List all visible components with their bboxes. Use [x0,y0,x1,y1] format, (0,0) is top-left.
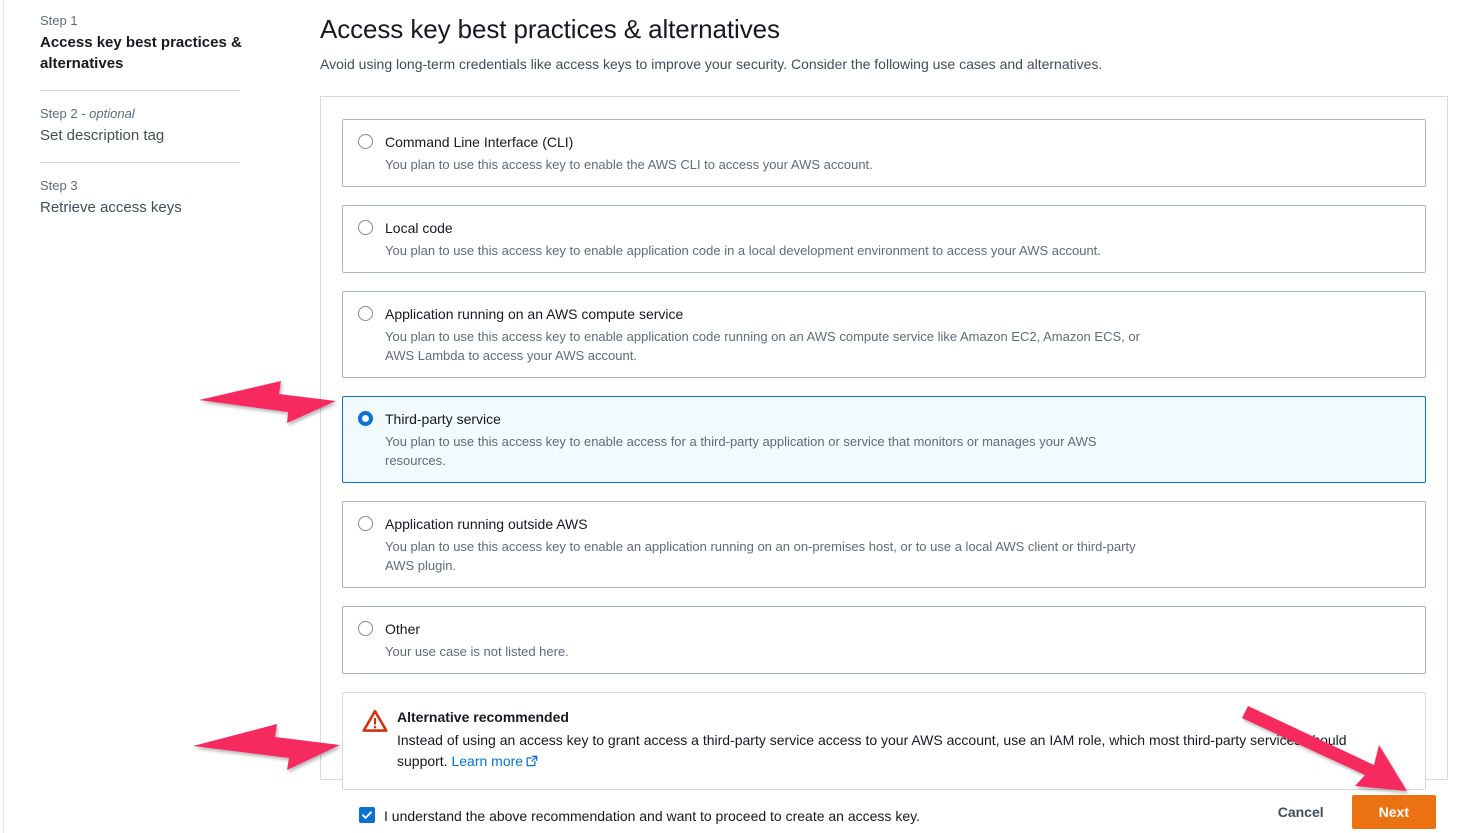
learn-more-label: Learn more [451,753,523,769]
radio-local-code[interactable] [358,220,373,235]
warning-triangle-icon [362,709,388,733]
arrow-to-third-party-option [199,381,336,423]
option-aws-compute-service[interactable]: Application running on an AWS compute se… [342,291,1426,378]
option-local-code-label: Local code [385,218,1409,238]
option-third-party-service-description: You plan to use this access key to enabl… [385,432,1145,470]
sidebar-step-3-kicker: Step 3 [40,177,290,195]
radio-aws-compute-service[interactable] [358,306,373,321]
cancel-button[interactable]: Cancel [1272,798,1330,826]
radio-other[interactable] [358,621,373,636]
wizard-footer: Cancel Next [320,790,1448,833]
external-link-icon [526,752,538,773]
option-other-label: Other [385,619,1409,639]
wizard-steps-sidebar: Step 1 Access key best practices & alter… [40,12,290,218]
sidebar-step-3-title: Retrieve access keys [40,197,290,218]
page-title: Access key best practices & alternatives [320,12,1448,46]
option-cli[interactable]: Command Line Interface (CLI) You plan to… [342,119,1426,187]
page-subtitle: Avoid using long-term credentials like a… [320,54,1448,74]
option-application-outside-aws-label: Application running outside AWS [385,514,1409,534]
option-other-description: Your use case is not listed here. [385,642,1145,661]
option-cli-label: Command Line Interface (CLI) [385,132,1409,152]
radio-third-party-service[interactable] [358,411,373,426]
alternative-recommended-alert: Alternative recommended Instead of using… [342,692,1426,790]
access-key-wizard-page: Step 1 Access key best practices & alter… [0,0,1460,833]
option-aws-compute-service-label: Application running on an AWS compute se… [385,304,1409,324]
option-third-party-service[interactable]: Third-party service You plan to use this… [342,396,1426,483]
sidebar-step-3[interactable]: Step 3 Retrieve access keys [40,177,290,218]
radio-application-outside-aws[interactable] [358,516,373,531]
option-aws-compute-service-description: You plan to use this access key to enabl… [385,327,1145,365]
option-third-party-service-label: Third-party service [385,409,1409,429]
sidebar-step-1[interactable]: Step 1 Access key best practices & alter… [40,12,290,74]
sidebar-divider-1 [40,90,240,91]
option-other[interactable]: Other Your use case is not listed here. [342,606,1426,674]
sidebar-step-2-kicker: Step 2 - optional [40,105,290,123]
sidebar-step-1-kicker: Step 1 [40,12,290,30]
alert-title: Alternative recommended [397,707,1407,727]
option-local-code[interactable]: Local code You plan to use this access k… [342,205,1426,273]
use-case-panel: Command Line Interface (CLI) You plan to… [320,96,1448,780]
option-application-outside-aws[interactable]: Application running outside AWS You plan… [342,501,1426,588]
sidebar-step-2[interactable]: Step 2 - optional Set description tag [40,105,290,146]
alert-body-text: Instead of using an access key to grant … [397,732,1347,769]
sidebar-step-1-title: Access key best practices & alternatives [40,32,290,74]
alert-body: Instead of using an access key to grant … [397,730,1397,773]
option-cli-description: You plan to use this access key to enabl… [385,155,1145,174]
arrow-to-confirm-checkbox [193,724,340,770]
sidebar-divider-2 [40,162,240,163]
sidebar-step-2-optional: - optional [78,106,135,121]
viewport-left-edge [3,0,4,833]
radio-cli[interactable] [358,134,373,149]
option-local-code-description: You plan to use this access key to enabl… [385,241,1145,260]
option-application-outside-aws-description: You plan to use this access key to enabl… [385,537,1145,575]
sidebar-step-2-title: Set description tag [40,125,290,146]
next-button[interactable]: Next [1352,795,1436,829]
page-header: Access key best practices & alternatives… [320,12,1448,74]
learn-more-link[interactable]: Learn more [451,753,538,769]
